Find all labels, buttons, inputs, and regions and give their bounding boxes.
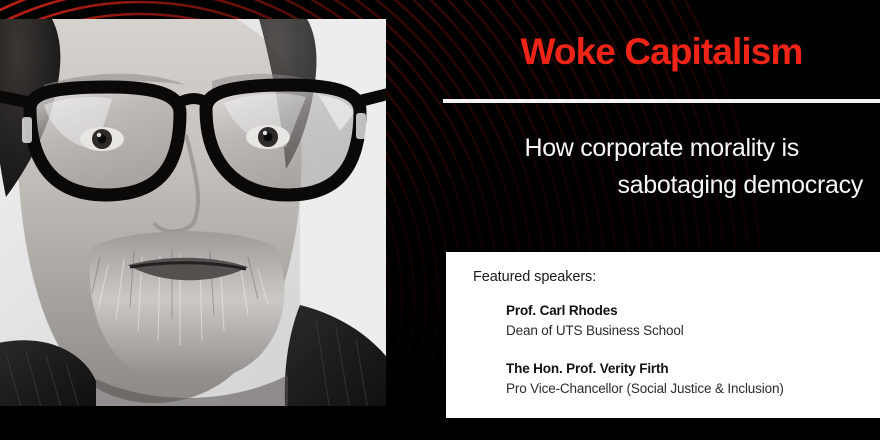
speaker-name: The Hon. Prof. Verity Firth [506, 360, 880, 378]
speaker-name: Prof. Carl Rhodes [506, 302, 880, 320]
speaker-entry-2: The Hon. Prof. Verity Firth Pro Vice-Cha… [473, 360, 880, 398]
poster-title: Woke Capitalism [443, 30, 880, 74]
speaker-entry-1: Prof. Carl Rhodes Dean of UTS Business S… [473, 302, 880, 340]
speaker-role: Pro Vice-Chancellor (Social Justice & In… [506, 379, 880, 398]
title-divider-rule [443, 99, 880, 103]
subtitle-line-1: How corporate morality is [443, 130, 863, 167]
featured-speakers-heading: Featured speakers: [473, 269, 880, 285]
portrait-illustration [0, 19, 386, 406]
speaker-portrait-photo [0, 19, 386, 406]
subtitle-line-2: sabotaging democracy [443, 167, 863, 204]
poster-canvas: Woke Capitalism How corporate morality i… [0, 0, 880, 440]
featured-speakers-panel: Featured speakers: Prof. Carl Rhodes Dea… [446, 252, 880, 418]
speaker-role: Dean of UTS Business School [506, 321, 880, 340]
poster-subtitle: How corporate morality is sabotaging dem… [443, 130, 863, 204]
